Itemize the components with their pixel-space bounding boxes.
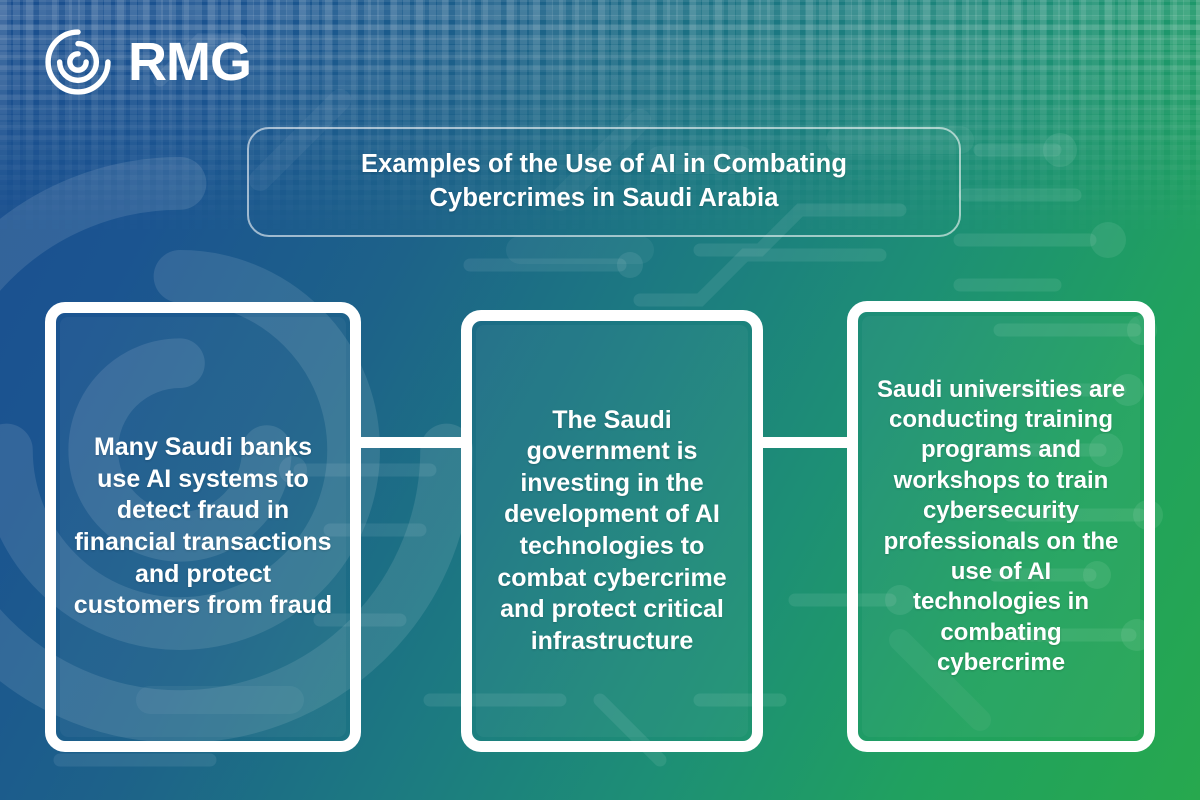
info-card-1-body: Many Saudi banks use AI systems to detec… — [60, 317, 346, 737]
info-card-3-body: Saudi universities are conducting traini… — [862, 316, 1140, 737]
info-card-3: Saudi universities are conducting traini… — [847, 301, 1155, 752]
info-card-2-text: The Saudi government is investing in the… — [488, 405, 736, 658]
info-card-2: The Saudi government is investing in the… — [461, 310, 763, 752]
connector-card1-card2 — [356, 437, 466, 448]
info-card-1: Many Saudi banks use AI systems to detec… — [45, 302, 361, 752]
info-card-3-text: Saudi universities are conducting traini… — [874, 375, 1128, 679]
infographic-canvas: RMG Examples of the Use of AI in Combati… — [0, 0, 1200, 800]
connector-card2-card3 — [758, 437, 852, 448]
info-card-1-text: Many Saudi banks use AI systems to detec… — [72, 432, 334, 622]
cards-row: Many Saudi banks use AI systems to detec… — [0, 0, 1200, 800]
info-card-2-body: The Saudi government is investing in the… — [476, 325, 748, 737]
